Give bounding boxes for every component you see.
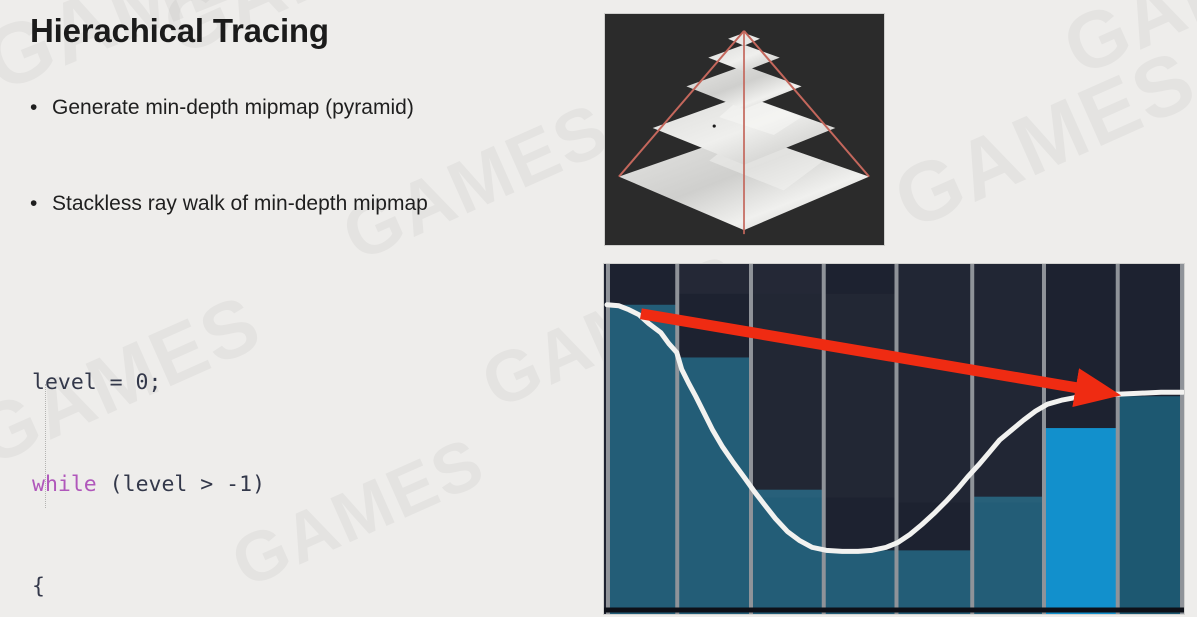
bullet-item-0: • Generate min-depth mipmap (pyramid) xyxy=(30,96,414,120)
bullet-label: Generate min-depth mipmap (pyramid) xyxy=(52,96,414,120)
pyramid-sample-point xyxy=(713,124,716,127)
mipmap-pyramid-image xyxy=(604,13,885,246)
slide-canvas: GAMES GAMES GAMES GAMES GAMES GAMES GAME… xyxy=(0,0,1197,617)
watermark-4: GAMES xyxy=(880,31,1197,249)
code-line-2: { xyxy=(32,570,433,604)
code-token-plain: (level > -1) xyxy=(97,472,265,497)
code-line-1: while (level > -1) xyxy=(32,468,433,502)
cell-fill-1 xyxy=(679,357,750,614)
cell-fill-3 xyxy=(825,550,895,614)
code-line-0: level = 0; xyxy=(32,366,433,400)
cell-fill-4 xyxy=(898,550,971,614)
cell-fill-2 xyxy=(752,490,822,614)
watermark-5: GAMES xyxy=(1050,0,1197,94)
bullet-marker: • xyxy=(30,192,52,215)
cell-fill-0 xyxy=(609,305,676,614)
page-title: Hierachical Tracing xyxy=(30,12,329,50)
cell-fill-7 xyxy=(1119,396,1181,614)
cell-fill-5 xyxy=(974,497,1043,614)
pyramid-svg xyxy=(605,14,884,245)
code-block: level = 0; while (level > -1) { stepCurr… xyxy=(32,298,433,617)
code-token-plain: level = 0; xyxy=(32,370,161,395)
minmax-mipmap-walk-image xyxy=(603,263,1185,615)
cell-fill-6-highlighted xyxy=(1045,428,1116,614)
code-token-brace: { xyxy=(32,574,45,599)
bullet-label: Stackless ray walk of min-depth mipmap xyxy=(52,192,428,216)
bullet-item-1: • Stackless ray walk of min-depth mipmap xyxy=(30,192,428,216)
code-token-keyword: while xyxy=(32,472,97,497)
heightfield-svg xyxy=(604,264,1184,614)
bullet-marker: • xyxy=(30,96,52,119)
